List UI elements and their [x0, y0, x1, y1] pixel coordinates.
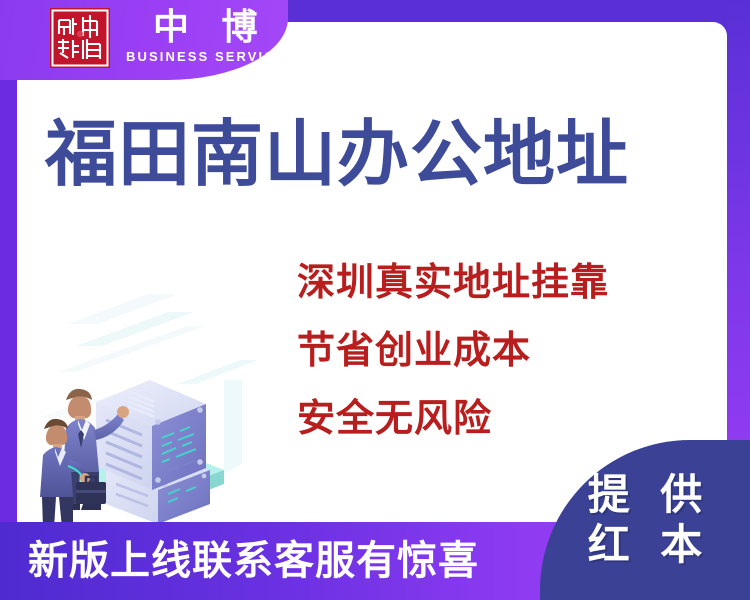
isometric-server-rack-with-businessmen-icon [28, 288, 268, 528]
badge-line-2: 红 本 [580, 521, 711, 569]
status-badge: 提 供 红 本 [540, 440, 750, 600]
brand-name-en: BUSINESS SERVICE [124, 49, 287, 65]
feature-item: 深圳真实地址挂靠 [297, 248, 609, 316]
page-title: 福田南山办公地址 [45, 112, 629, 196]
brand-name-cn: 中 博 [143, 8, 268, 48]
frame-right-corner-notch [713, 22, 727, 36]
feature-list: 深圳真实地址挂靠 节省创业成本 安全无风险 [297, 248, 609, 452]
brand-lockup: 中 博 BUSINESS SERVICE [124, 8, 287, 65]
promo-banner: 中 博 BUSINESS SERVICE 福田南山办公地址 深圳真实地址挂靠 节… [0, 0, 750, 600]
feature-item: 安全无风险 [297, 384, 609, 452]
bottom-promo-text: 新版上线联系客服有惊喜 [28, 535, 479, 587]
header-logo-block: 中 博 BUSINESS SERVICE [0, 0, 288, 80]
frame-left-strip [0, 56, 17, 526]
logo-row: 中 博 BUSINESS SERVICE [50, 8, 287, 68]
badge-line-1: 提 供 [580, 471, 711, 519]
feature-item: 节省创业成本 [297, 316, 609, 384]
red-square-seal-stamp-icon [50, 8, 110, 68]
